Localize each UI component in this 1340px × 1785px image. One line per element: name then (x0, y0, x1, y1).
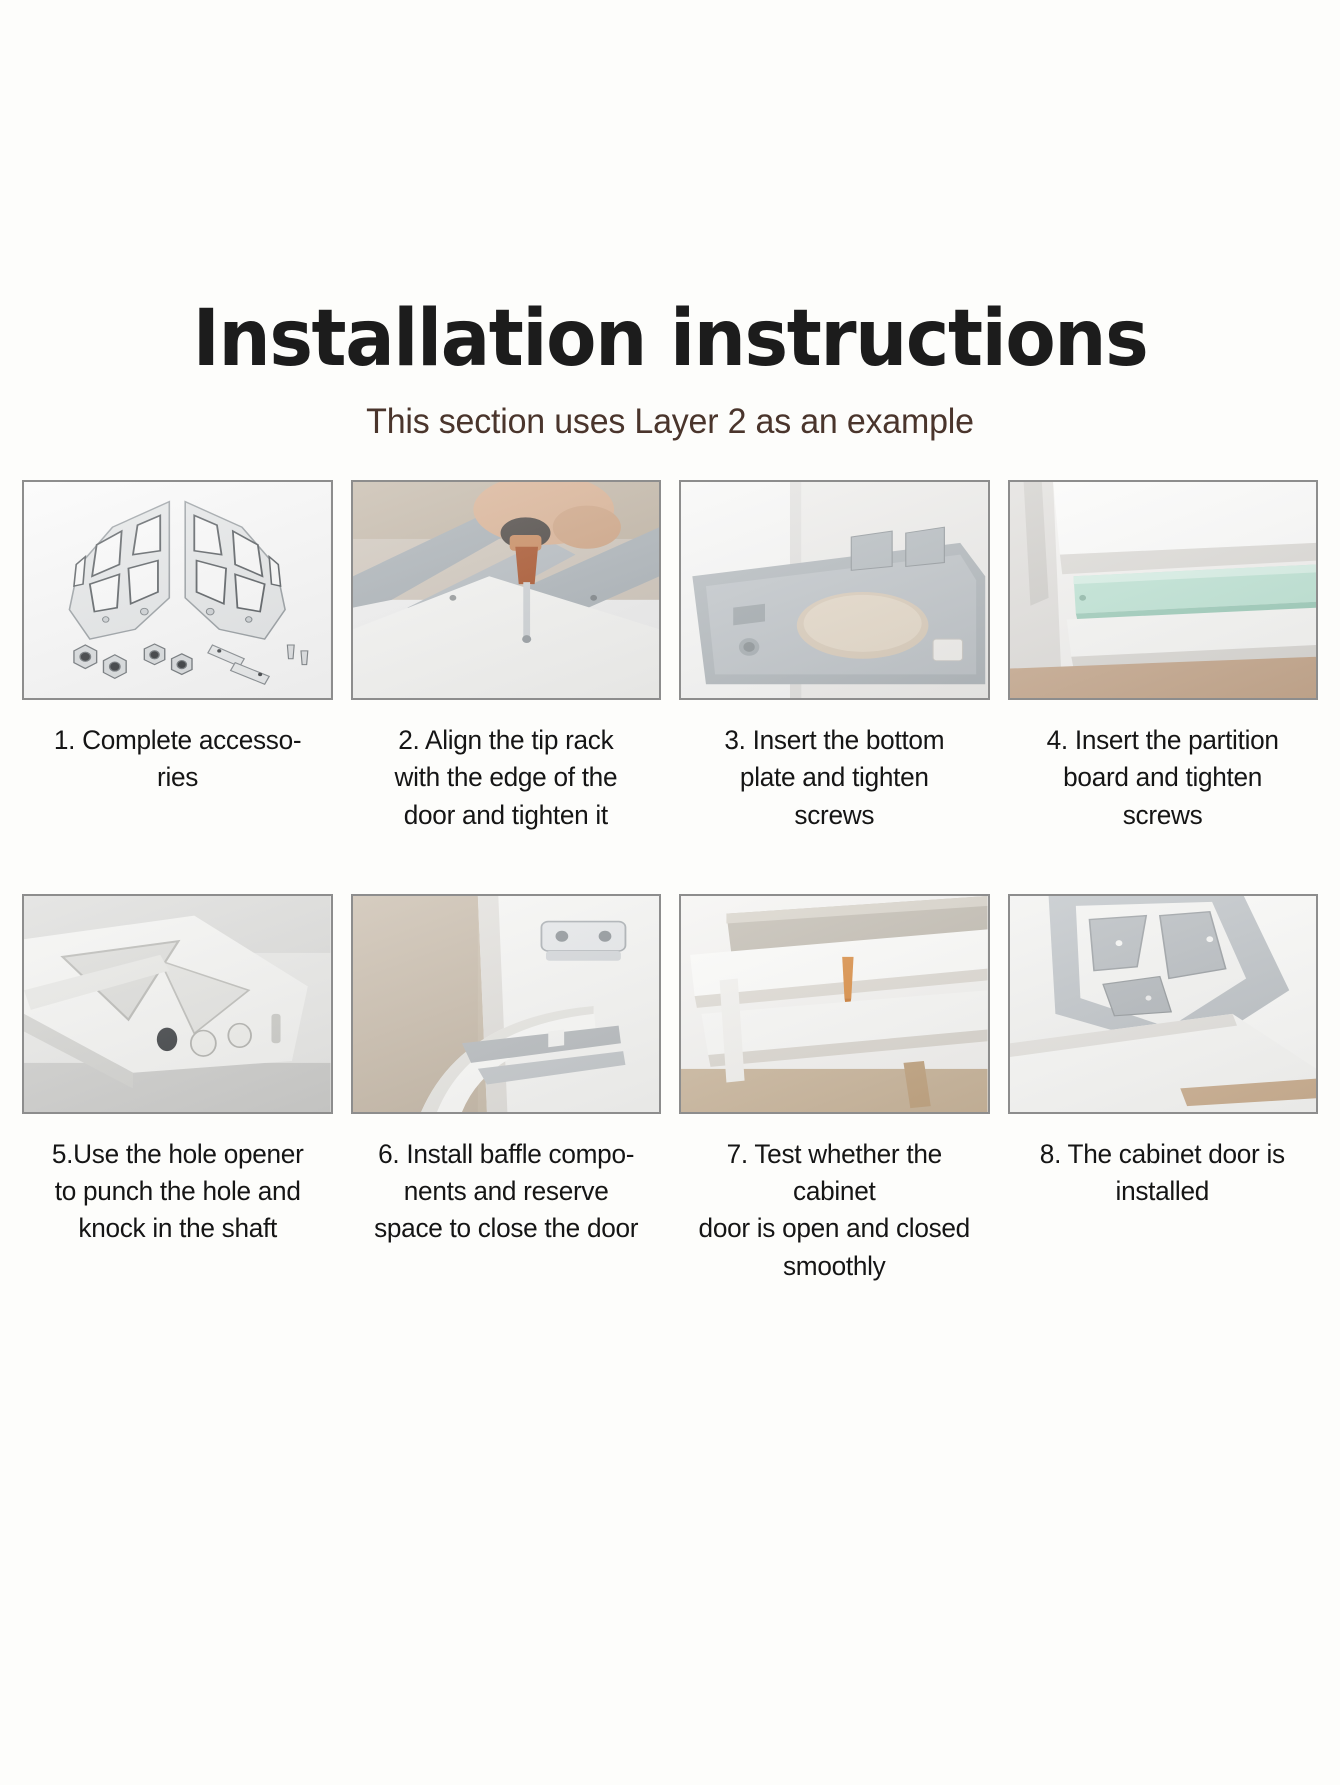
baffle-photo (351, 894, 662, 1114)
installed-illustration (1010, 896, 1317, 1112)
caption-line: 7. Test whether the cabinet (686, 1136, 983, 1211)
page-title: Installation instructions (57, 300, 1283, 378)
caption-line: plate and tighten (724, 759, 944, 796)
caption-line: space to close the door (374, 1210, 638, 1247)
caption-line: door is open and closed (686, 1210, 983, 1247)
caption-line: to punch the hole and (51, 1173, 303, 1210)
hole-opener-photo (22, 894, 333, 1114)
caption-line: 2. Align the tip rack (394, 722, 617, 759)
caption-line: screws (1047, 797, 1279, 834)
step-caption: 3. Insert the bottom plate and tighten s… (722, 722, 946, 834)
caption-line: board and tighten (1047, 759, 1279, 796)
caption-line: screws (724, 797, 944, 834)
caption-line: 1. Complete accesso- (54, 722, 301, 759)
step-item: 1. Complete accesso- ries (22, 480, 333, 834)
align-rack-photo (351, 480, 662, 700)
partition-board-photo (1008, 480, 1319, 700)
caption-line: 3. Insert the bottom (724, 722, 944, 759)
step-item: 3. Insert the bottom plate and tighten s… (679, 480, 990, 834)
accessories-photo (22, 480, 333, 700)
step-item: 2. Align the tip rack with the edge of t… (351, 480, 662, 834)
caption-line: 5.Use the hole opener (51, 1136, 303, 1173)
baffle-illustration (353, 896, 660, 1112)
caption-line: nents and reserve (374, 1173, 638, 1210)
installation-instructions-sheet: Installation instructions This section u… (0, 0, 1340, 1785)
caption-line: door and tighten it (394, 797, 617, 834)
step-item: 7. Test whether the cabinet door is open… (679, 894, 990, 1285)
header: Installation instructions This section u… (18, 0, 1322, 442)
accessories-illustration (24, 482, 331, 698)
step-caption: 2. Align the tip rack with the edge of t… (392, 722, 619, 834)
step-item: 4. Insert the partition board and tighte… (1008, 480, 1319, 834)
step-item: 5.Use the hole opener to punch the hole … (22, 894, 333, 1285)
step-caption: 8. The cabinet door is installed (1038, 1136, 1287, 1211)
installed-photo (1008, 894, 1319, 1114)
steps-grid: 1. Complete accesso- ries (18, 480, 1322, 1285)
caption-line: 8. The cabinet door is (1040, 1136, 1285, 1173)
align-rack-illustration (353, 482, 660, 698)
test-door-photo (679, 894, 990, 1114)
page-subtitle: This section uses Layer 2 as an example (38, 402, 1303, 442)
caption-line: ries (54, 759, 301, 796)
bottom-plate-illustration (681, 482, 988, 698)
bottom-plate-photo (679, 480, 990, 700)
row-spacer (22, 834, 1318, 894)
step-caption: 7. Test whether the cabinet door is open… (684, 1136, 985, 1285)
step-item: 8. The cabinet door is installed (1008, 894, 1319, 1285)
caption-line: smoothly (686, 1248, 983, 1285)
hole-opener-illustration (24, 896, 331, 1112)
step-caption: 4. Insert the partition board and tighte… (1045, 722, 1281, 834)
step-item: 6. Install baffle compo- nents and reser… (351, 894, 662, 1285)
caption-line: installed (1040, 1173, 1285, 1210)
caption-line: 6. Install baffle compo- (374, 1136, 638, 1173)
step-caption: 5.Use the hole opener to punch the hole … (49, 1136, 304, 1248)
step-caption: 6. Install baffle compo- nents and reser… (372, 1136, 640, 1248)
partition-board-illustration (1010, 482, 1317, 698)
caption-line: with the edge of the (394, 759, 617, 796)
caption-line: knock in the shaft (51, 1210, 303, 1247)
step-caption: 1. Complete accesso- ries (52, 722, 303, 797)
caption-line: 4. Insert the partition (1047, 722, 1279, 759)
test-door-illustration (681, 896, 988, 1112)
